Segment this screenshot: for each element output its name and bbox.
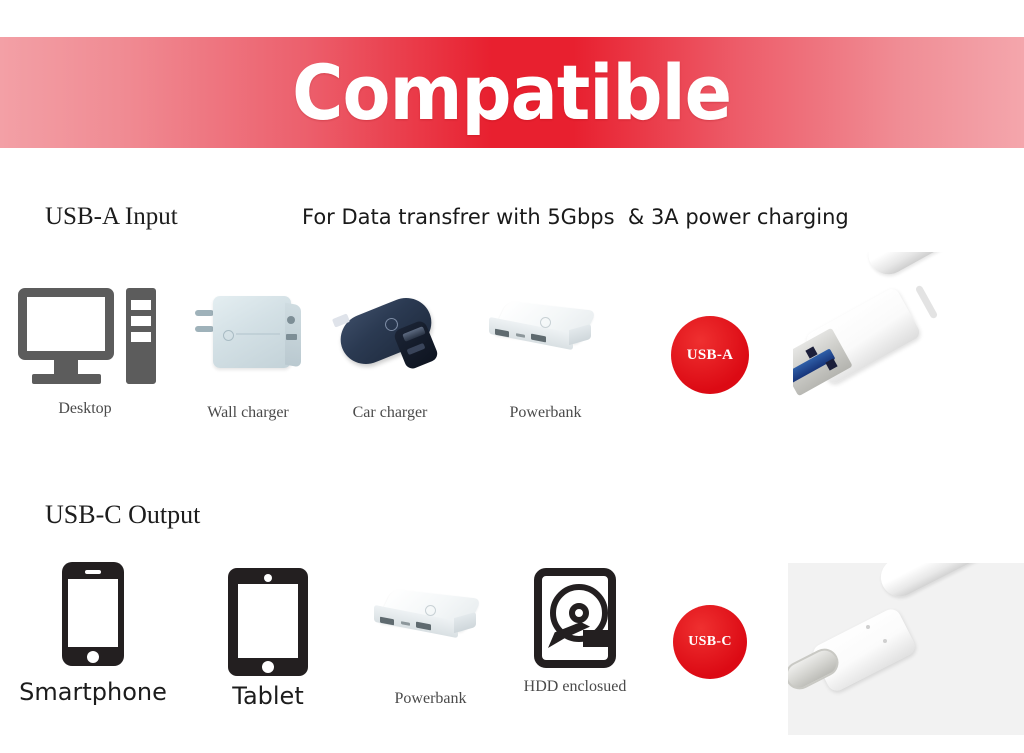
cable-jacket bbox=[874, 563, 1024, 603]
monitor-base bbox=[32, 374, 101, 384]
pc-tower bbox=[126, 288, 156, 384]
phone-screen bbox=[68, 579, 118, 647]
tablet-icon bbox=[228, 568, 308, 676]
hdd-controller-block bbox=[583, 630, 608, 647]
phone-speaker bbox=[85, 570, 101, 574]
monitor-frame bbox=[18, 288, 114, 360]
header-banner: Compatible bbox=[0, 37, 1024, 148]
usb-a-badge-label: USB-A bbox=[687, 347, 734, 364]
usb-a-section-subheading: For Data transfrer with 5Gbps & 3A power… bbox=[302, 205, 849, 229]
item-label: Smartphone bbox=[19, 678, 167, 706]
item-powerbank: Powerbank bbox=[483, 300, 608, 372]
item-tablet: Tablet bbox=[228, 568, 308, 676]
powerbank-icon bbox=[483, 300, 608, 372]
cable-marking-dot bbox=[883, 639, 887, 643]
powerbank-icon bbox=[368, 588, 493, 660]
usb-c-connector-photo bbox=[788, 563, 1024, 735]
usb-a-badge: USB-A bbox=[671, 316, 749, 394]
tablet-screen bbox=[238, 584, 298, 658]
hdd-icon bbox=[534, 568, 616, 668]
cable-strain-relief-ring bbox=[915, 285, 939, 320]
tablet-camera bbox=[264, 574, 272, 582]
cable-jacket bbox=[861, 252, 1024, 281]
wall-charger-icon bbox=[183, 288, 313, 384]
desktop-icon bbox=[10, 288, 160, 386]
plug-prong bbox=[195, 326, 214, 332]
charger-port bbox=[287, 316, 295, 324]
charger-logo bbox=[223, 330, 234, 341]
item-label: Powerbank bbox=[395, 690, 467, 708]
plug-prong bbox=[195, 310, 214, 316]
item-label: Desktop bbox=[58, 400, 111, 418]
powerbank-logo bbox=[425, 605, 436, 616]
item-hdd: HDD enclosued bbox=[534, 568, 616, 668]
smartphone-icon bbox=[62, 562, 124, 666]
item-label: HDD enclosued bbox=[524, 678, 627, 696]
phone-home-button bbox=[87, 651, 99, 663]
usb-c-badge: USB-C bbox=[673, 605, 747, 679]
item-label: Powerbank bbox=[510, 404, 582, 422]
item-label: Wall charger bbox=[207, 404, 288, 422]
charger-text-line bbox=[236, 333, 280, 335]
car-charger-icon bbox=[325, 288, 455, 384]
item-wall-charger: Wall charger bbox=[183, 288, 313, 384]
tablet-home-button bbox=[262, 661, 274, 673]
item-car-charger: Car charger bbox=[325, 288, 455, 384]
usb-a-section-heading: USB-A Input bbox=[45, 203, 178, 231]
usb-c-section-heading: USB-C Output bbox=[45, 500, 200, 530]
usb-a-connector-photo bbox=[793, 252, 1024, 444]
usb-c-badge-label: USB-C bbox=[688, 634, 732, 650]
item-smartphone: Smartphone bbox=[62, 562, 124, 666]
infographic-page: Compatible USB-A Input For Data transfre… bbox=[0, 0, 1024, 753]
item-label: Car charger bbox=[353, 404, 428, 422]
item-desktop: Desktop bbox=[10, 288, 160, 386]
page-title: Compatible bbox=[292, 55, 731, 131]
item-powerbank: Powerbank bbox=[368, 588, 493, 660]
cable-marking-dot bbox=[866, 625, 870, 629]
charger-port bbox=[286, 334, 297, 340]
item-label: Tablet bbox=[232, 682, 303, 710]
powerbank-logo bbox=[540, 317, 551, 328]
hdd-spindle-hub bbox=[569, 603, 589, 623]
